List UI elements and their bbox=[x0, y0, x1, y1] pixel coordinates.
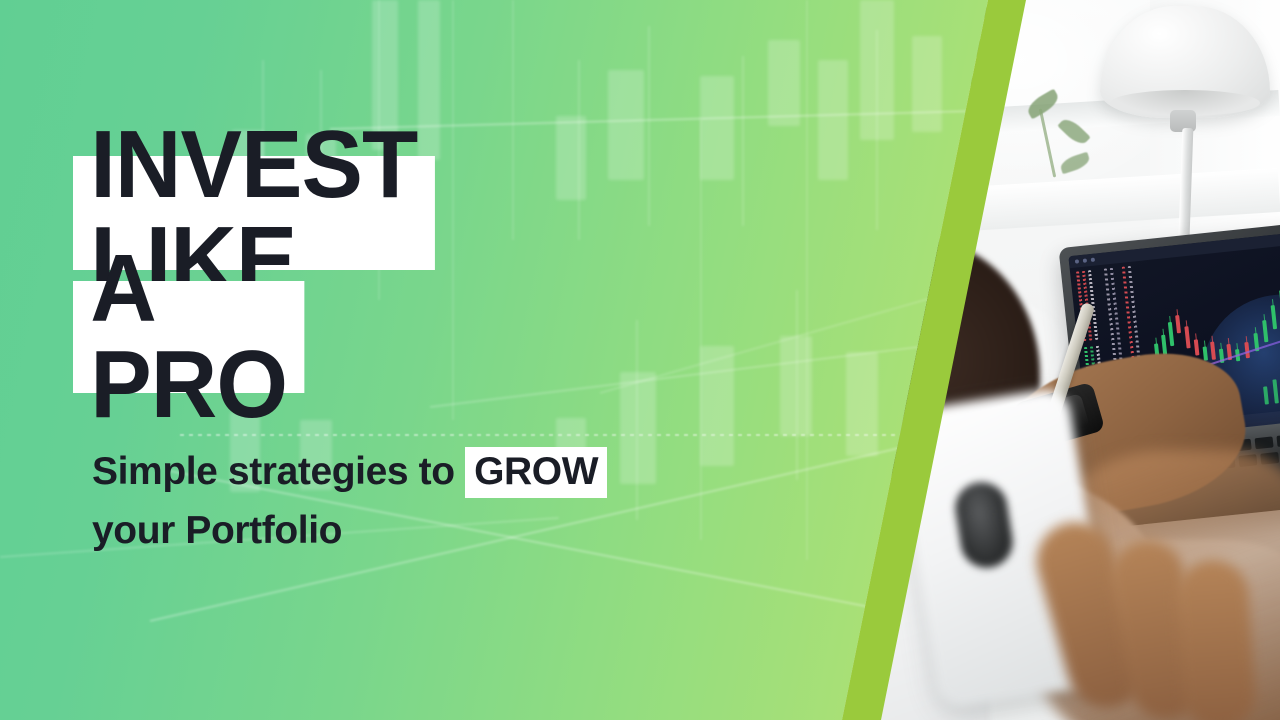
subtitle-text-after: your Portfolio bbox=[92, 509, 342, 552]
subtitle-text-before: Simple strategies to bbox=[92, 450, 465, 493]
subtitle: Simple strategies to GROW your Portfolio bbox=[92, 442, 852, 560]
headline-line-2: A PRO bbox=[73, 281, 304, 393]
banner-canvas: INVEST LIKE A PRO Simple strategies to G… bbox=[0, 0, 1280, 720]
subtitle-highlight-grow: GROW bbox=[465, 447, 607, 498]
